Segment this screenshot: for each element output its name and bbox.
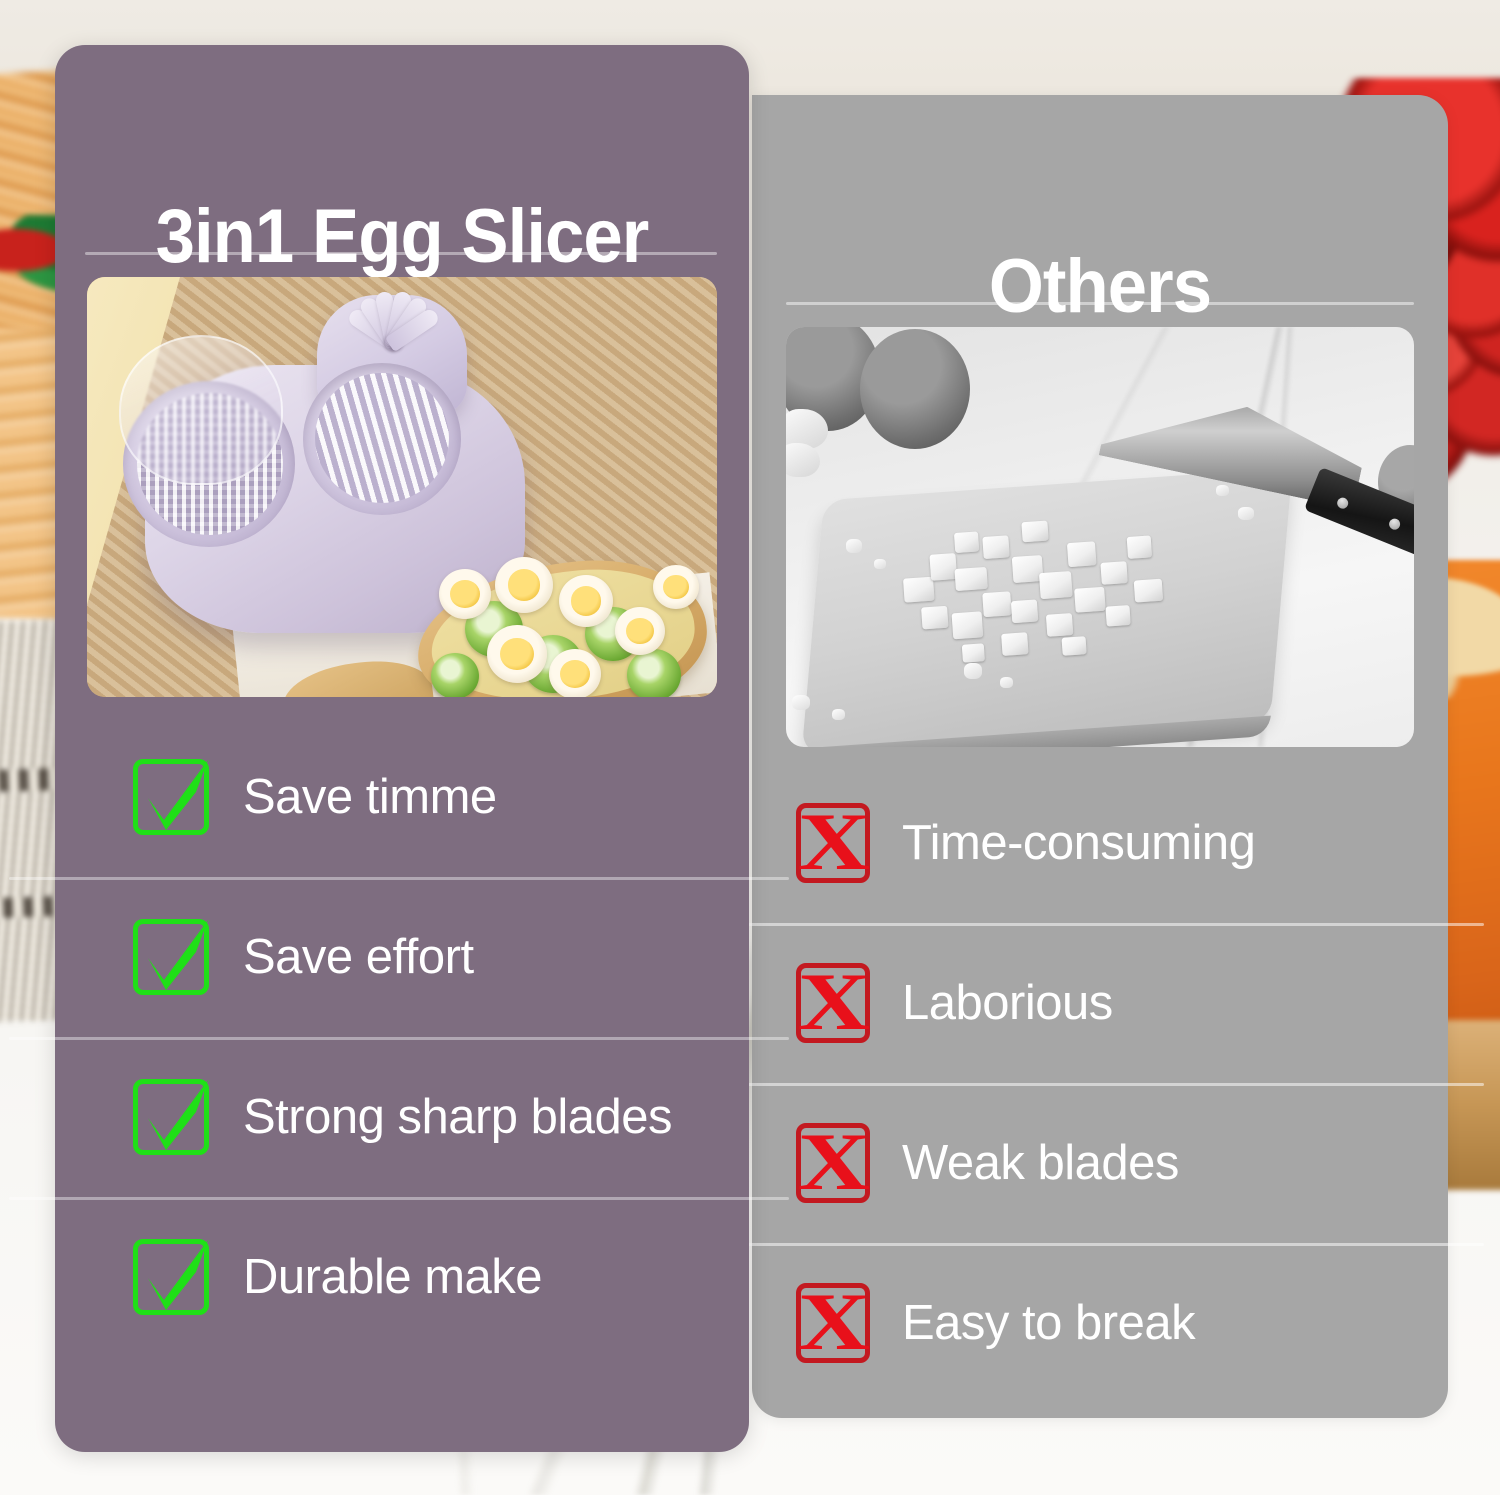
list-item: X Weak blades	[752, 1083, 1448, 1243]
chopped-egg-pile	[892, 493, 1193, 683]
cross-icon: X	[796, 963, 870, 1043]
egg-crumb-1	[846, 539, 862, 553]
comparison-infographic: Others	[0, 0, 1500, 1495]
egg-slice	[487, 625, 547, 683]
list-item: Durable make	[55, 1197, 749, 1357]
egg-crumb-10	[832, 709, 845, 720]
list-item-label: Time-consuming	[902, 815, 1255, 871]
list-item-label: Durable make	[243, 1249, 542, 1305]
egg-crumb-4	[1000, 677, 1013, 688]
list-item-label: Laborious	[902, 975, 1113, 1031]
cross-glyph: X	[798, 961, 868, 1043]
list-item: Strong sharp blades	[55, 1037, 749, 1197]
list-item: Save effort	[55, 877, 749, 1037]
egg-slice	[495, 557, 553, 613]
egg-slice	[549, 649, 601, 697]
egg-slice	[559, 575, 613, 627]
cucumber-slice	[431, 653, 479, 697]
list-item: X Laborious	[752, 923, 1448, 1083]
cross-icon: X	[796, 1283, 870, 1363]
list-item-label: Easy to break	[902, 1295, 1195, 1351]
list-item: X Time-consuming	[752, 763, 1448, 923]
product-feature-list: Save timme Save effort Strong sharp blad…	[55, 717, 749, 1357]
egg-crumb-9	[792, 695, 810, 710]
check-icon	[133, 759, 209, 835]
list-item-label: Save timme	[243, 769, 497, 825]
product-title-rule	[85, 252, 717, 255]
cucumber-slice	[627, 649, 681, 697]
others-panel: Others	[752, 95, 1448, 1418]
list-item-label: Strong sharp blades	[243, 1089, 672, 1145]
product-title: 3in1 Egg Slicer	[79, 193, 724, 280]
egg-crumb-7	[1216, 485, 1229, 496]
cross-icon: X	[796, 1123, 870, 1203]
list-item: Save timme	[55, 717, 749, 877]
egg-crumb-8	[1238, 507, 1254, 520]
list-item-label: Save effort	[243, 929, 474, 985]
egg-slice	[653, 565, 699, 609]
egg-crumb-3	[964, 663, 982, 679]
cross-icon: X	[796, 803, 870, 883]
others-photo	[786, 327, 1414, 747]
egg-slice	[439, 569, 491, 619]
check-icon	[133, 1239, 209, 1315]
slicer-wires	[315, 373, 449, 503]
others-title-rule	[786, 302, 1414, 305]
check-icon	[133, 919, 209, 995]
cross-glyph: X	[798, 801, 868, 883]
clear-lid	[119, 335, 283, 485]
others-feature-list: X Time-consuming X Laborious X Weak blad…	[752, 763, 1448, 1403]
cross-glyph: X	[798, 1281, 868, 1363]
egg-crumb-2	[874, 559, 886, 569]
others-title: Others	[776, 243, 1423, 330]
list-item: X Easy to break	[752, 1243, 1448, 1403]
whole-egg-2	[860, 329, 970, 449]
product-photo	[87, 277, 717, 697]
egg-slice	[615, 607, 665, 655]
list-item-label: Weak blades	[902, 1135, 1179, 1191]
check-icon	[133, 1079, 209, 1155]
product-panel: 3in1 Egg Slicer	[55, 45, 749, 1452]
cross-glyph: X	[798, 1121, 868, 1203]
